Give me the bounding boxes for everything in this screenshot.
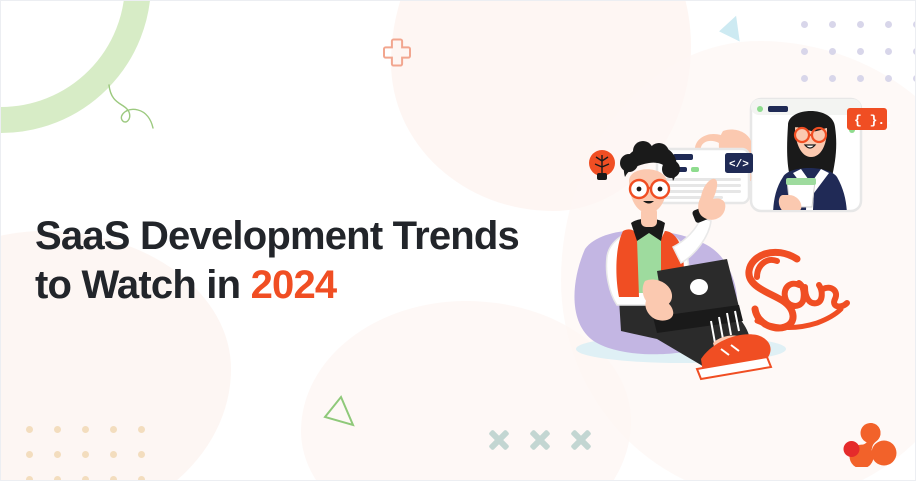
headline-line-1: SaaS Development Trends bbox=[35, 214, 519, 258]
triangle-blue-decoration bbox=[717, 16, 739, 44]
x-mark-icon bbox=[570, 429, 592, 451]
dot-grid-bottom-left bbox=[26, 426, 145, 481]
page-title: SaaS Development Trends to Watch in 2024 bbox=[35, 212, 595, 310]
headline-year: 2024 bbox=[251, 263, 337, 307]
banner-root: SaaS Development Trends to Watch in 2024 bbox=[0, 0, 916, 481]
x-mark-icon bbox=[488, 429, 510, 451]
x-marks-decoration bbox=[488, 429, 592, 451]
logo-mark bbox=[841, 419, 899, 467]
plus-mark-icon bbox=[382, 37, 412, 67]
triangle-green-decoration bbox=[321, 393, 361, 431]
hero-illustration: { }.. </> bbox=[561, 81, 916, 411]
headline-line-2-prefix: to Watch in bbox=[35, 263, 251, 307]
dot-grid-top-right bbox=[801, 21, 916, 82]
code-badge-label: </> bbox=[729, 159, 749, 171]
braces-badge-label: { }.. bbox=[854, 113, 893, 128]
green-swirl-icon bbox=[101, 79, 171, 149]
lightbulb-icon bbox=[589, 150, 615, 180]
x-mark-icon bbox=[529, 429, 551, 451]
sass-wordmark bbox=[749, 252, 847, 328]
